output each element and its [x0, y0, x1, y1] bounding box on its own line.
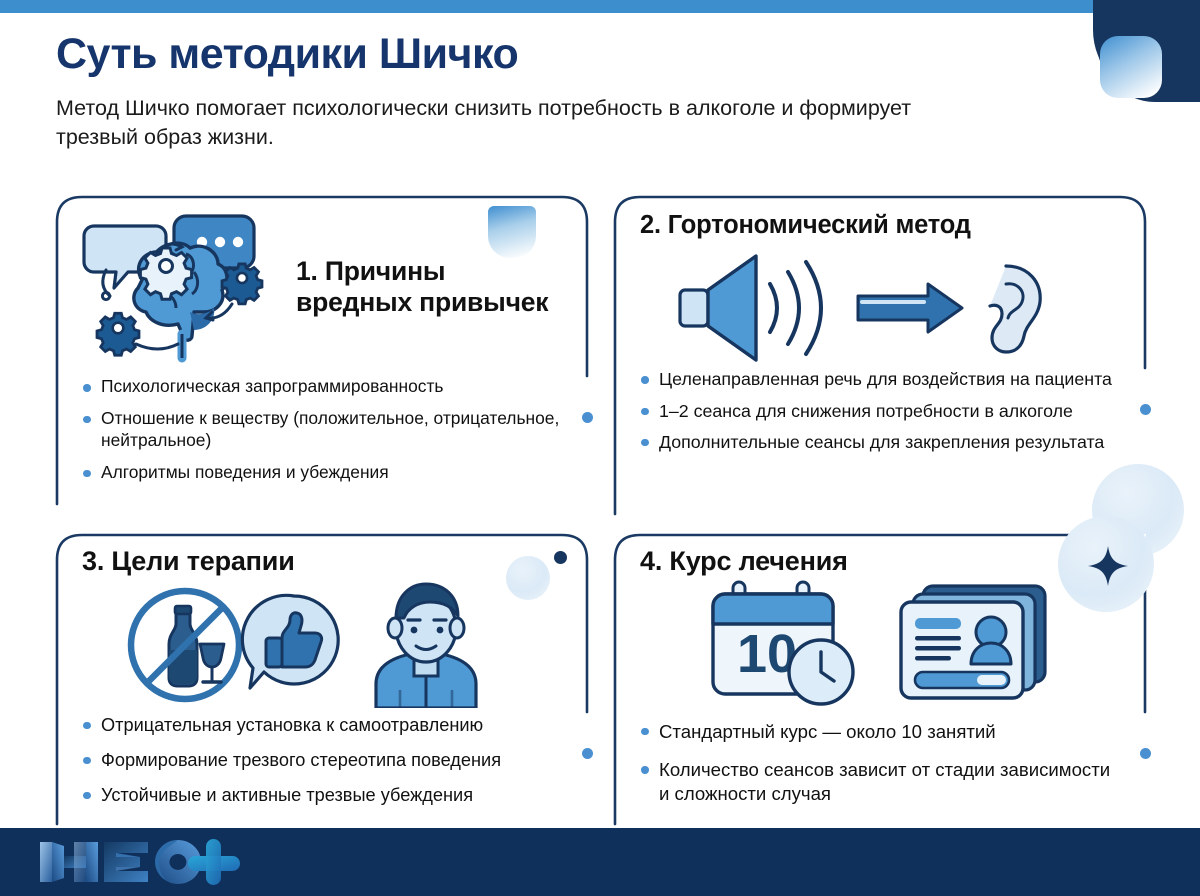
card-body: 4. Курс лечения 10 [614, 546, 1146, 836]
list-item: 1–2 сеанса для снижения потребности в ал… [640, 400, 1120, 422]
list-item: Отношение к веществу (положительное, отр… [82, 408, 562, 452]
card-method: 2. Гортономический метод [614, 196, 1146, 514]
card-course: 4. Курс лечения 10 [614, 534, 1146, 824]
brain-gears-speech-bubbles-icon [82, 208, 282, 366]
list-item: Алгоритмы поведения и убеждения [82, 462, 562, 484]
footer [0, 828, 1200, 896]
card-title: 1. Причины вредных привычек [296, 256, 562, 319]
list-item: Устойчивые и активные трезвые убеждения [82, 784, 562, 807]
card-bullets: Стандартный курс — около 10 занятий Коли… [640, 720, 1120, 805]
list-item: Целенаправленная речь для воздействия на… [640, 368, 1120, 390]
no-alcohol-thumbs-up-person-icon [82, 582, 562, 708]
cards-grid: 1. Причины вредных привычек Психологичес… [56, 196, 1146, 824]
card-body: 3. Цели терапии [56, 546, 588, 836]
calendar-clock-cards-icon: 10 [640, 580, 1120, 708]
card-title: 3. Цели терапии [82, 546, 562, 578]
list-item: Формирование трезвого стереотипа поведен… [82, 749, 562, 772]
card-bullets: Целенаправленная речь для воздействия на… [640, 368, 1120, 453]
card-head-row: 1. Причины вредных привычек [82, 196, 562, 366]
card-body: 1. Причины вредных привычек Психологичес… [56, 196, 588, 504]
card-bullets: Отрицательная установка к самоотравлению… [82, 714, 562, 807]
list-item: Дополнительные сеансы для закрепления ре… [640, 431, 1120, 453]
gradient-square-decoration [1100, 36, 1162, 98]
gear-icon [140, 248, 191, 299]
neo-plus-logo-icon [36, 836, 241, 888]
list-item: Психологическая запрограммированность [82, 376, 562, 398]
page-subtitle: Метод Шичко помогает психологически сниз… [56, 94, 986, 152]
card-causes: 1. Причины вредных привычек Психологичес… [56, 196, 588, 504]
card-goals: 3. Цели терапии [56, 534, 588, 824]
list-item: Стандартный курс — около 10 занятий [640, 720, 1120, 743]
brand-logo [36, 836, 241, 888]
gear-icon [97, 313, 139, 355]
header: Суть методики Шичко Метод Шичко помогает… [56, 32, 1076, 153]
speaker-arrow-ear-icon [640, 248, 1120, 366]
card-body: 2. Гортономический метод [614, 210, 1146, 528]
gear-icon [222, 264, 262, 304]
card-title: 4. Курс лечения [640, 546, 1120, 578]
card-bullets: Психологическая запрограммированность От… [82, 376, 562, 484]
page-title: Суть методики Шичко [56, 32, 1076, 77]
card-title: 2. Гортономический метод [640, 210, 1120, 240]
list-item: Отрицательная установка к самоотравлению [82, 714, 562, 737]
top-accent-bar [0, 0, 1200, 13]
list-item: Количество сеансов зависит от стадии зав… [640, 758, 1120, 805]
infographic-page: Суть методики Шичко Метод Шичко помогает… [0, 0, 1200, 896]
